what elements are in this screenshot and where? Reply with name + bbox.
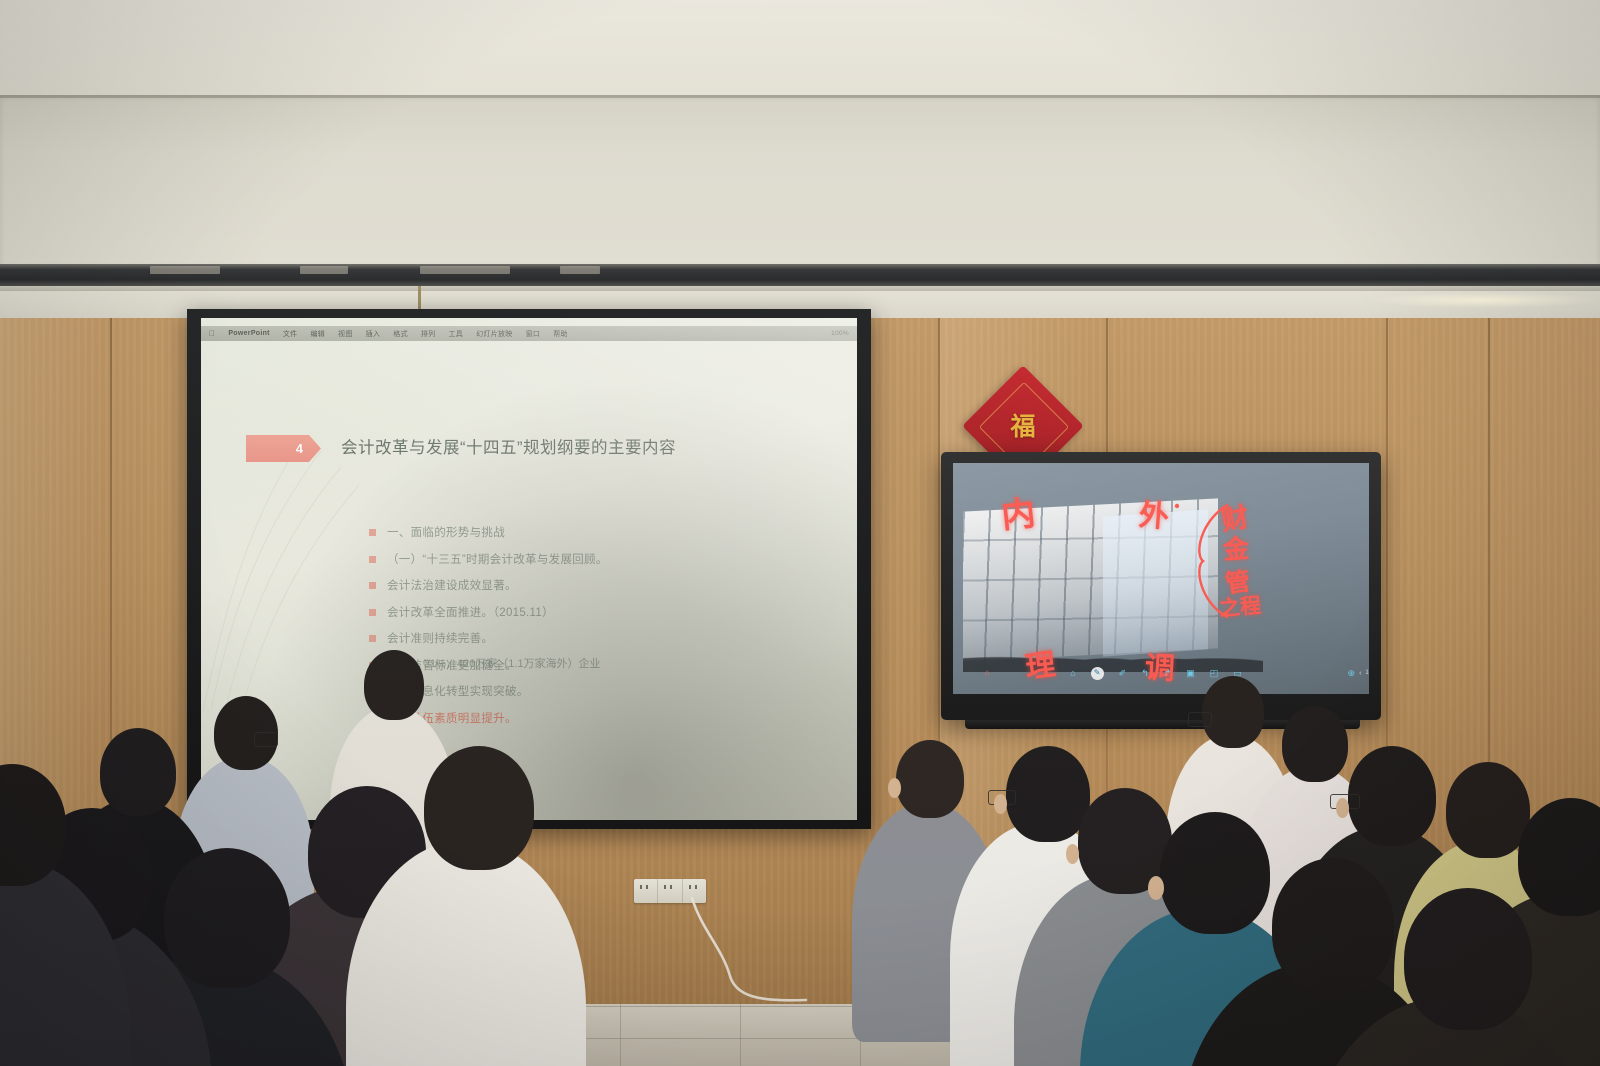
slide-number-badge: 4 xyxy=(246,435,321,462)
macos-menubar[interactable]:  PowerPoint 文件 编辑 视图 插入 格式 排列 工具 幻灯片放映 … xyxy=(201,326,857,341)
bullet-marker-icon xyxy=(369,556,376,563)
lecture-room-photo: 福  PowerPoint 文件 编辑 视图 插入 格式 排列 工具 幻灯片放… xyxy=(0,0,1600,1066)
soffit-edge xyxy=(0,95,1600,98)
menu-item-arrange[interactable]: 排列 xyxy=(421,329,436,339)
menu-item-tools[interactable]: 工具 xyxy=(448,329,463,339)
ceiling-soffit xyxy=(0,95,1600,265)
menu-item-format[interactable]: 格式 xyxy=(393,329,408,339)
ceiling xyxy=(0,0,1600,95)
bullet-marker-icon xyxy=(369,582,376,589)
menu-item-help[interactable]: 帮助 xyxy=(553,329,568,339)
menu-item-window[interactable]: 窗口 xyxy=(526,329,541,339)
menu-item-slideshow[interactable]: 幻灯片放映 xyxy=(476,329,513,339)
new-year-decoration: 福 xyxy=(962,383,1084,453)
list-item: 会计法治建设成效显著。 xyxy=(369,577,839,593)
menu-app-name[interactable]: PowerPoint xyxy=(228,330,270,337)
menu-item-insert[interactable]: 插入 xyxy=(366,329,381,339)
bullet-text: （一）“十三五”时期会计改革与发展回顾。 xyxy=(387,551,608,567)
menubar-status: 100% xyxy=(831,330,849,337)
audience xyxy=(0,600,1600,1066)
bullet-text: 会计法治建设成效显著。 xyxy=(387,577,517,593)
ink-annotation-jin: 金 xyxy=(1222,528,1251,567)
bullet-text: 一、面临的形势与挑战 xyxy=(387,524,505,540)
menu-item-view[interactable]: 视图 xyxy=(338,329,353,339)
slide-title: 会计改革与发展“十四五”规划纲要的主要内容 xyxy=(341,434,821,458)
menu-item-edit[interactable]: 编辑 xyxy=(310,329,325,339)
list-item: （一）“十三五”时期会计改革与发展回顾。 xyxy=(369,551,839,567)
ceiling-light-glow xyxy=(1370,292,1600,308)
apple-logo-icon[interactable]:  xyxy=(209,329,215,338)
fu-character: 福 xyxy=(1002,405,1044,445)
bullet-marker-icon xyxy=(369,529,376,536)
list-item: 一、面临的形势与挑战 xyxy=(369,524,839,540)
screen-drop-cord xyxy=(418,286,421,310)
ink-annotation-guan: 管 xyxy=(1223,561,1253,600)
menu-item-file[interactable]: 文件 xyxy=(283,329,298,339)
ink-annotation-cai: 财 xyxy=(1218,495,1251,538)
projector-screen-valance xyxy=(0,264,1600,286)
